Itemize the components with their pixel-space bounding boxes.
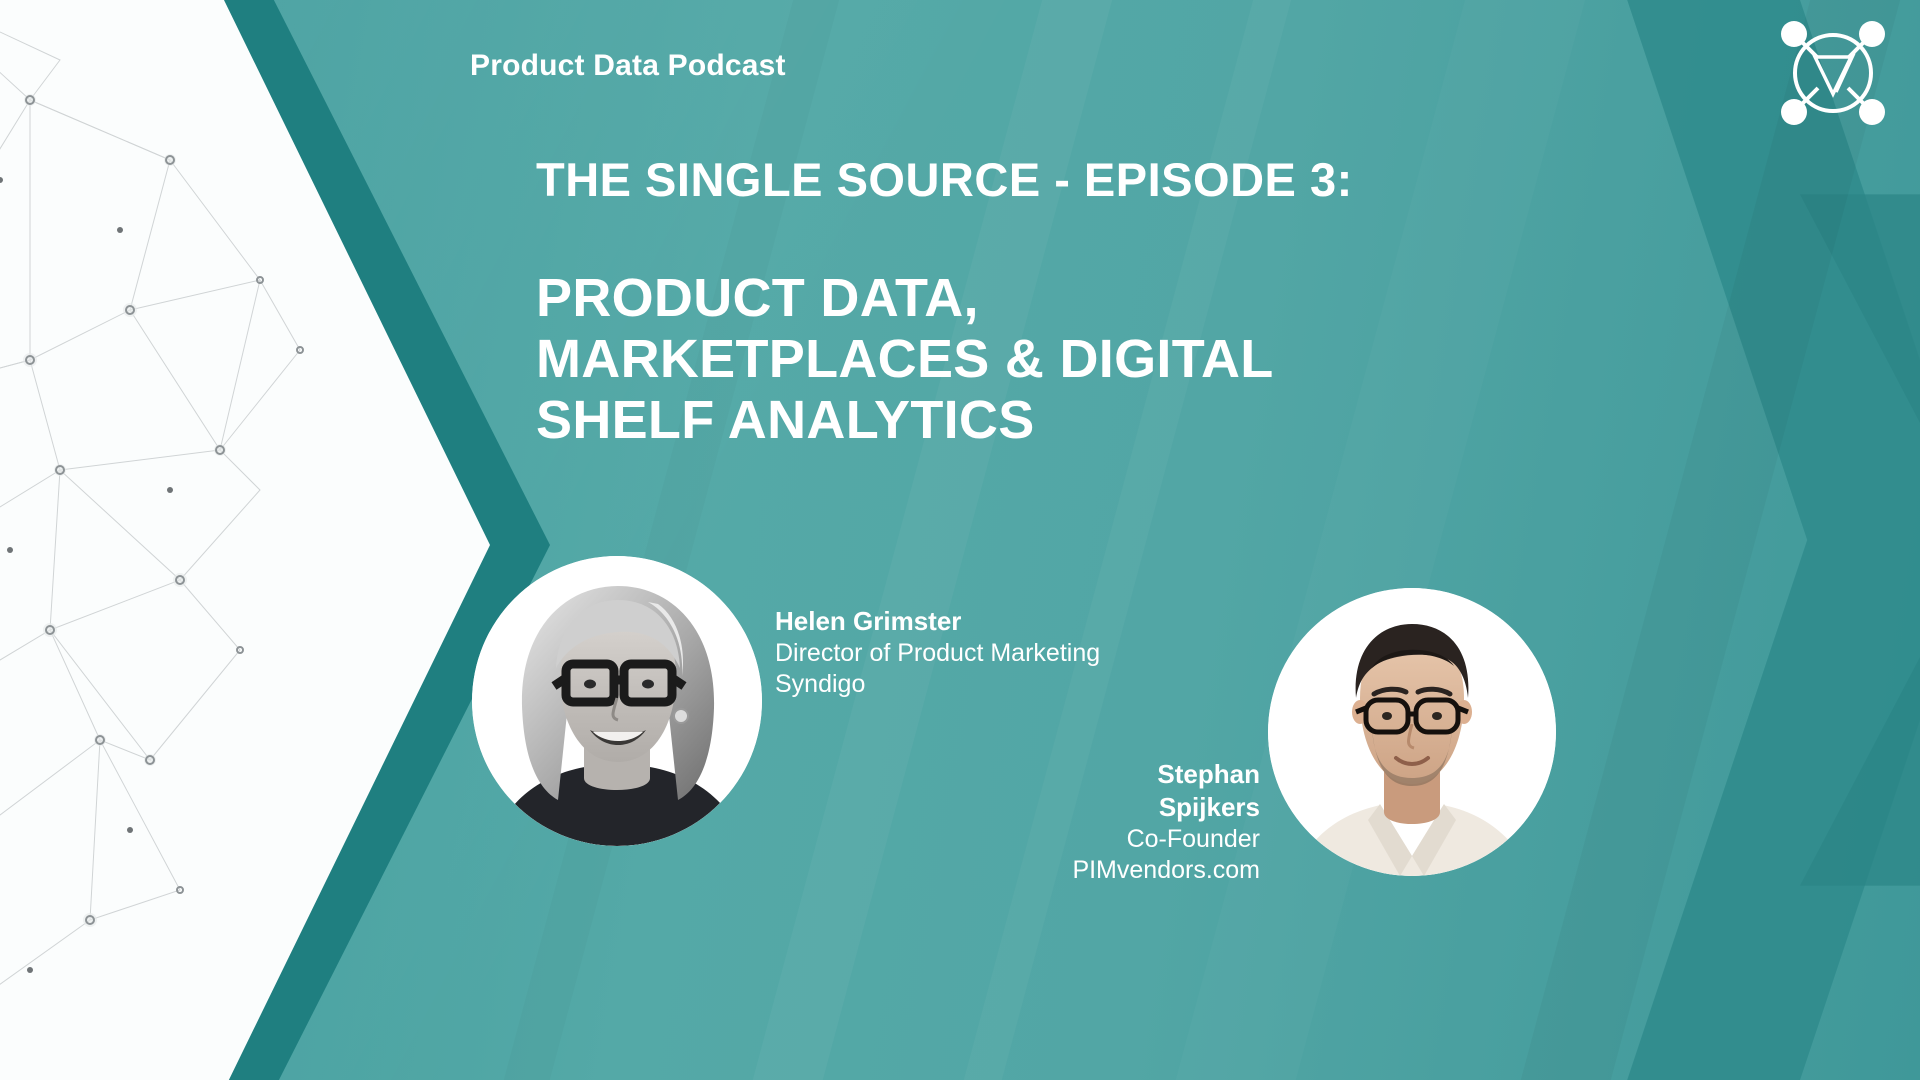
speaker-company: PIMvendors.com: [1055, 855, 1260, 886]
headline-line-3: SHELF ANALYTICS: [536, 390, 1274, 451]
network-mesh-graphic: [0, 0, 490, 1080]
network-logo-icon: [1768, 8, 1898, 138]
speaker-name: Stephan Spijkers: [1055, 758, 1260, 824]
headline-line-1: PRODUCT DATA,: [536, 268, 1274, 329]
avatar: [1268, 588, 1556, 876]
hexagon-graphic-panel: [0, 0, 560, 1080]
speaker-company: Syndigo: [775, 669, 1100, 700]
episode-title: THE SINGLE SOURCE - EPISODE 3:: [536, 152, 1353, 207]
pimvendors-network-logo: [1768, 8, 1898, 138]
page-title: PRODUCT DATA, MARKETPLACES & DIGITAL SHE…: [536, 268, 1274, 451]
helen-grimster-photo: [472, 556, 762, 846]
speaker-name: Helen Grimster: [775, 605, 1100, 638]
headline-line-2: MARKETPLACES & DIGITAL: [536, 329, 1274, 390]
speaker-info-helen-grimster: Helen Grimster Director of Product Marke…: [775, 605, 1100, 700]
stephan-spijkers-photo: [1268, 588, 1556, 876]
avatar: [472, 556, 762, 846]
hexagon-white-layer: [0, 0, 490, 1080]
speaker-role: Co-Founder: [1055, 824, 1260, 855]
speaker-info-stephan-spijkers: Stephan Spijkers Co-Founder PIMvendors.c…: [1055, 758, 1260, 886]
podcast-series-kicker: Product Data Podcast: [470, 49, 786, 83]
podcast-promo-slide: Product Data Podcast THE SINGLE SOURCE -…: [0, 0, 1920, 1080]
speaker-role: Director of Product Marketing: [775, 638, 1100, 669]
